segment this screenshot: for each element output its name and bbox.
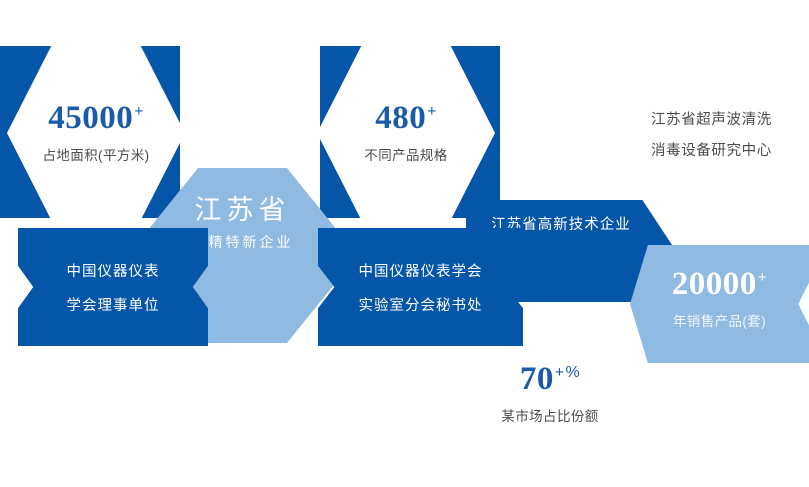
infographic-canvas: 45000+ 占地面积(平方米) 480+ 不同产品规格 江苏省 专精特新企业 … [0,0,809,487]
stat-card-annual-sales: 20000+ 年销售产品(套) [630,268,809,330]
stat-area-label: 占地面积(平方米) [42,144,149,164]
stat-market-share-label: 某市场占比份额 [501,405,598,425]
stat-annual-sales-label: 年销售产品(套) [673,310,766,330]
stat-specs-number: 480+ [375,102,437,135]
stat-specs-label: 不同产品规格 [364,144,447,164]
stat-market-share-number: 70+% [520,363,580,396]
badge-research-center-line1: 江苏省超声波清洗 [651,105,772,136]
stat-annual-sales-number: 20000+ [672,268,768,301]
badge-lab-branch-shape [318,228,523,346]
badge-instrument-council-shape [18,228,208,346]
stat-card-market-share: 70+% 某市场占比份额 [465,363,635,425]
stat-area-number: 45000+ [48,102,144,135]
badge-research-center-text: 江苏省超声波清洗 消毒设备研究中心 [651,105,772,167]
badge-research-center-line2: 消毒设备研究中心 [651,136,772,167]
